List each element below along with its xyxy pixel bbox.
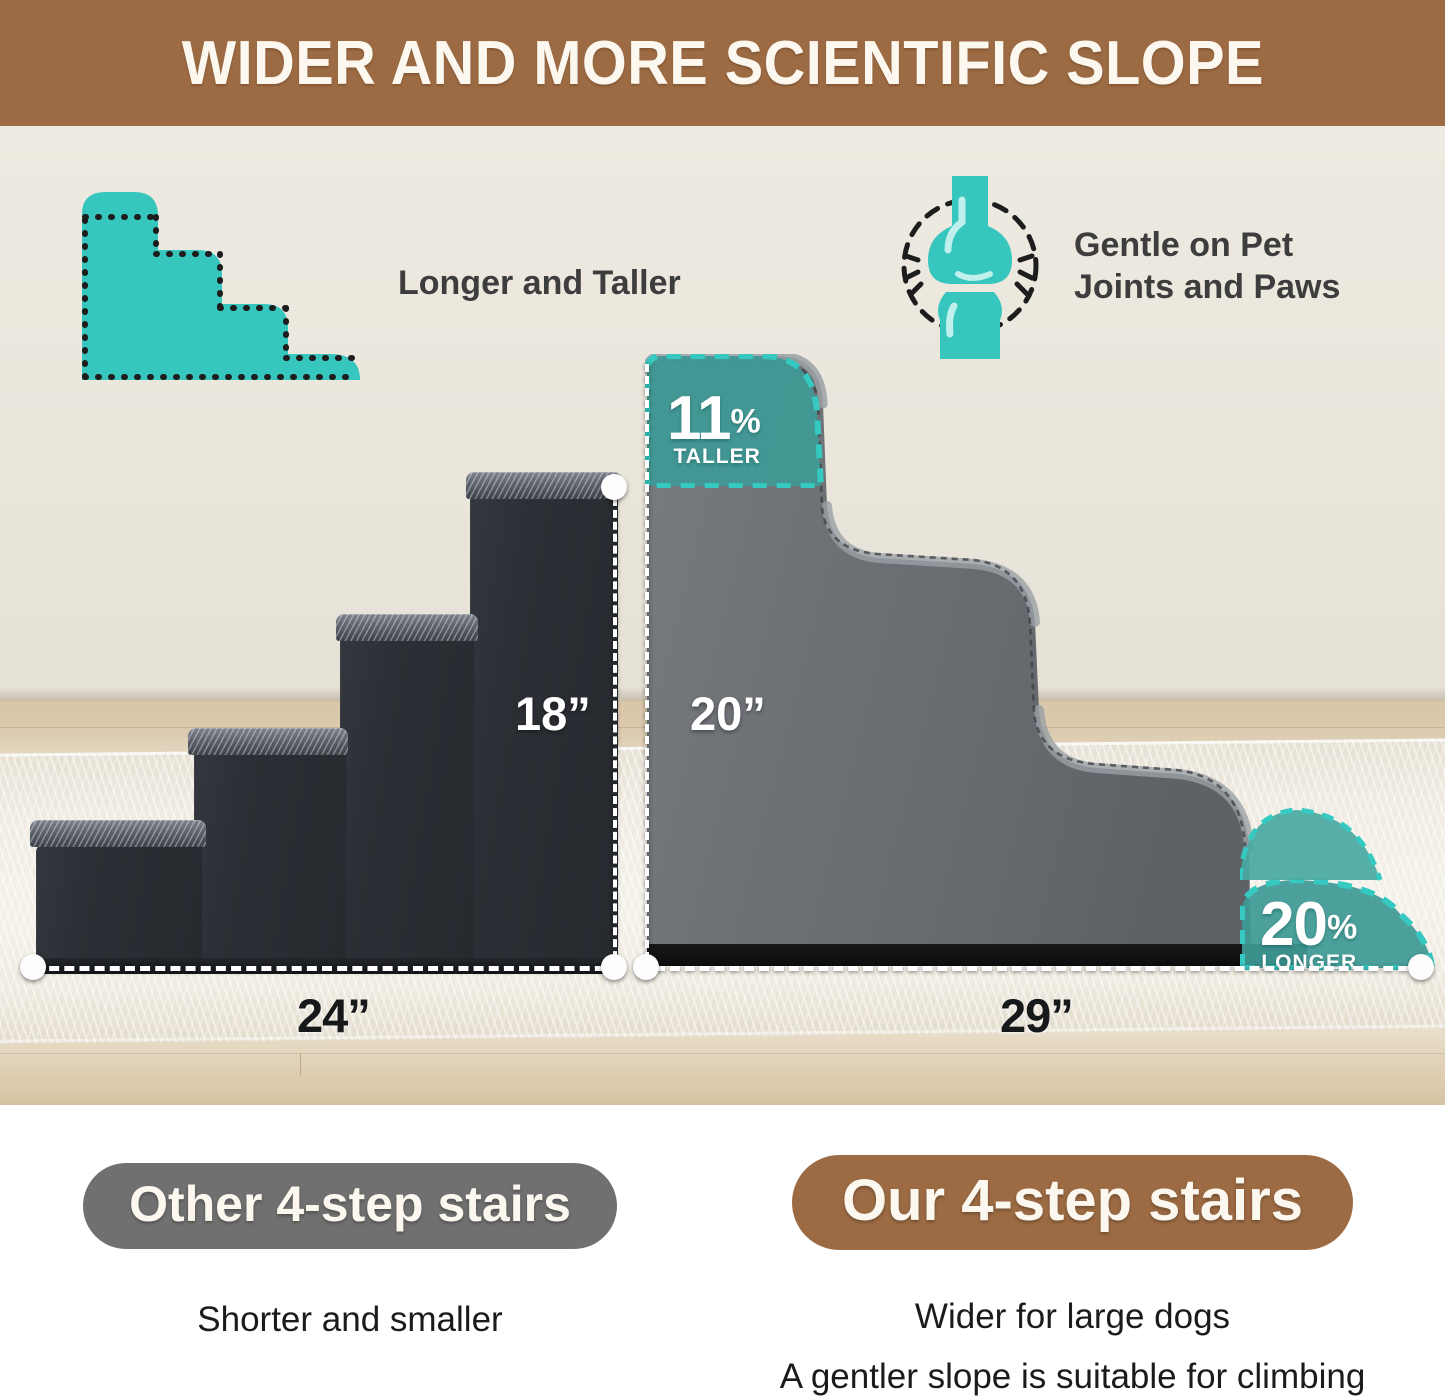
our-stairs-base-strip	[647, 944, 1307, 966]
other-length-right-dot	[601, 954, 627, 980]
taller-highlight-wedge: 11% TALLER	[645, 354, 835, 488]
comparison-column-other: Other 4-step stairs Shorter and smaller	[0, 1105, 700, 1347]
other-stairs-pill: Other 4-step stairs	[83, 1163, 617, 1249]
comparison-footer: Other 4-step stairs Shorter and smaller …	[0, 1105, 1445, 1399]
our-length-right-dot	[1408, 954, 1434, 980]
other-step-1-face	[36, 844, 202, 972]
our-stairs-desc-1: Wider for large dogs	[700, 1290, 1445, 1344]
our-height-label: 20”	[690, 686, 766, 741]
feature-gentle-joints-label: Gentle on Pet Joints and Paws	[1074, 225, 1340, 308]
feature-longer-taller: Longer and Taller	[72, 184, 681, 384]
other-length-dash-line	[34, 966, 620, 971]
comparison-column-ours: Our 4-step stairs Wider for large dogs A…	[700, 1105, 1445, 1399]
feature-gentle-joints-line2: Joints and Paws	[1074, 267, 1340, 308]
other-step-3-top	[336, 614, 478, 641]
other-step-2-face	[194, 751, 346, 972]
other-height-top-dot	[601, 474, 627, 500]
taller-badge-symbol: %	[731, 403, 761, 441]
longer-badge: 20% LONGER	[1260, 894, 1357, 973]
feature-gentle-joints-line1: Gentle on Pet	[1074, 225, 1340, 266]
taller-badge: 11% TALLER	[667, 388, 761, 467]
other-height-dash-line	[613, 486, 617, 971]
header-banner: WIDER AND MORE SCIENTIFIC SLOPE	[0, 0, 1445, 126]
longer-badge-number: 20	[1260, 890, 1327, 959]
product-photo-stage: Longer and Taller Gentle	[0, 126, 1445, 1105]
our-length-label: 29”	[1000, 988, 1073, 1043]
feature-gentle-joints: Gentle on Pet Joints and Paws	[890, 174, 1340, 359]
other-length-left-dot	[20, 954, 46, 980]
longer-badge-symbol: %	[1327, 909, 1357, 947]
our-length-dash-line	[655, 966, 1423, 971]
other-step-3-face	[340, 636, 474, 972]
other-height-label: 18”	[515, 686, 591, 741]
other-step-1-top	[30, 820, 206, 847]
our-stairs-pill: Our 4-step stairs	[792, 1155, 1353, 1250]
our-stairs-desc-2: A gentler slope is suitable for climbing	[700, 1350, 1445, 1399]
taller-badge-word: TALLER	[667, 446, 761, 467]
our-length-left-dot	[633, 954, 659, 980]
feature-longer-taller-label: Longer and Taller	[398, 263, 681, 304]
knee-joint-icon	[890, 174, 1050, 359]
stairs-compare-icon	[72, 184, 372, 384]
longer-highlight-wedge: 20% LONGER	[1240, 878, 1436, 970]
other-stairs-desc-1: Shorter and smaller	[0, 1293, 700, 1347]
taller-badge-number: 11	[667, 384, 731, 453]
our-height-dash-line	[645, 364, 649, 972]
other-length-label: 24”	[297, 988, 370, 1043]
infographic-root: WIDER AND MORE SCIENTIFIC SLOPE	[0, 0, 1445, 1399]
longer-wedge-upper-cap	[1240, 806, 1390, 882]
other-step-2-top	[188, 728, 348, 755]
longer-cap-shape	[1240, 806, 1390, 882]
page-title: WIDER AND MORE SCIENTIFIC SLOPE	[181, 28, 1263, 99]
other-step-4-top	[466, 472, 622, 499]
